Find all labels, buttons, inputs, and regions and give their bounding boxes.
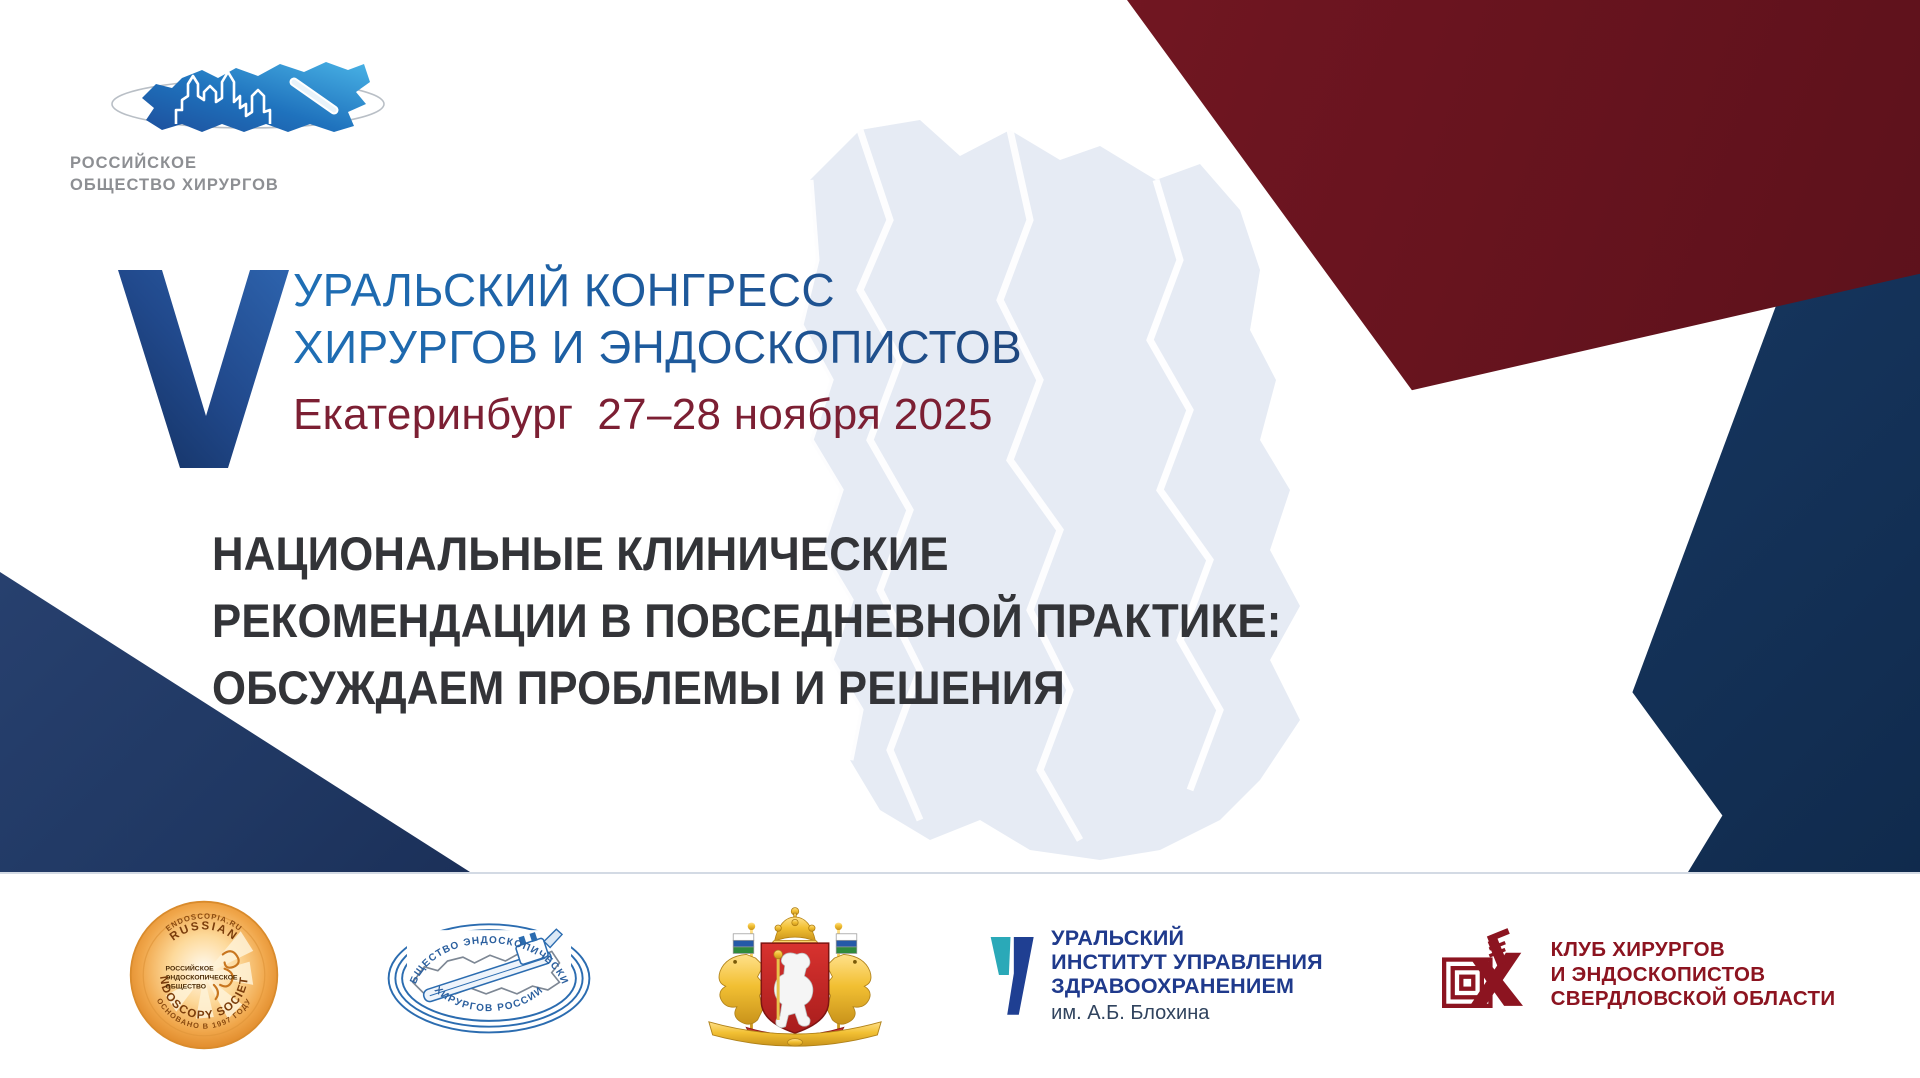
svg-text:ОБЩЕСТВО: ОБЩЕСТВО [166, 983, 206, 990]
uiuz-line-1: УРАЛЬСКИЙ [1051, 926, 1323, 950]
svg-text:ЭНДОСКОПИЧЕСКОЕ: ЭНДОСКОПИЧЕСКОЕ [166, 974, 238, 981]
russian-society-of-surgeons-logo: РОССИЙСКОЕ ОБЩЕСТВО ХИРУРГОВ [70, 52, 400, 202]
russian-endoscopy-society-logo: ENDOSCOPIA.RU ОСНОВАНО В 1997 ГОДУ RUSSI… [104, 900, 304, 1050]
club-line-2: И ЭНДОСКОПИСТОВ [1551, 963, 1836, 988]
dates-label: 27–28 ноября 2025 [597, 390, 992, 439]
main-heading-line-3: ОБСУЖДАЕМ ПРОБЛЕМЫ И РЕШЕНИЯ [212, 654, 1533, 721]
roman-numeral-five [116, 256, 291, 468]
partner-logos-footer: ENDOSCOPIA.RU ОСНОВАНО В 1997 ГОДУ RUSSI… [0, 872, 1920, 1078]
city-label: Екатеринбург [293, 390, 573, 439]
society-caption-line-1: РОССИЙСКОЕ [70, 152, 400, 174]
congress-title: УРАЛЬСКИЙ КОНГРЕСС ХИРУРГОВ И ЭНДОСКОПИС… [293, 262, 1133, 376]
conference-poster: РОССИЙСКОЕ ОБЩЕСТВО ХИРУРГОВ УРАЛЬСКИЙ К… [0, 0, 1920, 1078]
main-heading-line-1: НАЦИОНАЛЬНЫЕ КЛИНИЧЕСКИЕ [212, 520, 1533, 587]
uiuz-line-2: ИНСТИТУТ УПРАВЛЕНИЯ [1051, 950, 1323, 974]
city-and-dates: Екатеринбург27–28 ноября 2025 [293, 390, 993, 440]
page-title: НАЦИОНАЛЬНЫЕ КЛИНИЧЕСКИЕ РЕКОМЕНДАЦИИ В … [212, 520, 1533, 721]
uiuz-line-4: им. А.Б. Блохина [1051, 1002, 1323, 1024]
footer-divider [0, 872, 1920, 874]
russia-map-logo-icon [98, 52, 388, 152]
main-heading-line-2: РЕКОМЕНДАЦИИ В ПОВСЕДНЕВНОЙ ПРАКТИКЕ: [212, 587, 1533, 654]
region-map-silhouette-icon [560, 60, 1460, 890]
society-logo-caption: РОССИЙСКОЕ ОБЩЕСТВО ХИРУРГОВ [70, 152, 400, 196]
sverdlovsk-oblast-coat-of-arms [680, 900, 910, 1050]
club-line-3: СВЕРДЛОВСКОЙ ОБЛАСТИ [1551, 987, 1836, 1012]
ural-institute-of-health-management-logo: УРАЛЬСКИЙ ИНСТИТУТ УПРАВЛЕНИЯ ЗДРАВООХРА… [976, 900, 1336, 1050]
club-of-surgeons-and-endoscopists-logo: КЛУБ ХИРУРГОВ И ЭНДОСКОПИСТОВ СВЕРДЛОВСК… [1432, 900, 1842, 1050]
society-caption-line-2: ОБЩЕСТВО ХИРУРГОВ [70, 174, 400, 196]
congress-title-line-1: УРАЛЬСКИЙ КОНГРЕСС [293, 262, 1133, 319]
society-of-endoscopic-surgeons-of-russia-logo: ОБЩЕСТВО ЭНДОСКОПИЧЕСКИХ ХИРУРГОВ РОССИИ [364, 900, 614, 1050]
club-mark-icon [1439, 925, 1535, 1025]
club-line-1: КЛУБ ХИРУРГОВ [1551, 938, 1836, 963]
uiuz-mark-icon [989, 932, 1037, 1018]
svg-text:РОССИЙСКОЕ: РОССИЙСКОЕ [166, 964, 215, 973]
uiuz-line-3: ЗДРАВООХРАНЕНИЕМ [1051, 974, 1323, 998]
congress-title-line-2: ХИРУРГОВ И ЭНДОСКОПИСТОВ [293, 319, 1133, 376]
